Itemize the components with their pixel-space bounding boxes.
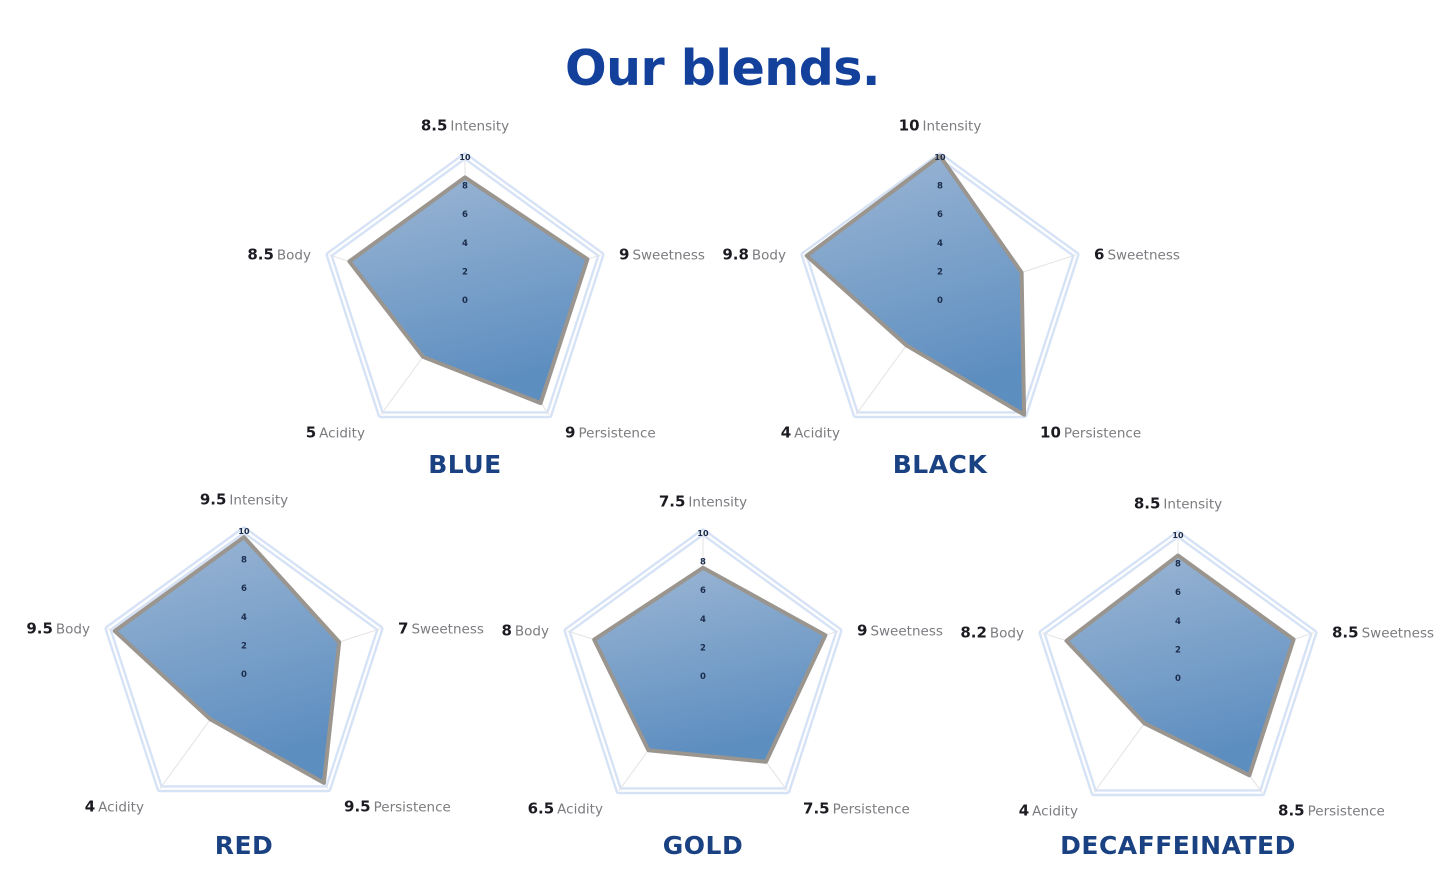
radar-chart-gold: 10864207.5Intensity9Sweetness7.5Persiste… [0, 0, 1445, 894]
radial-tick-label: 8 [1175, 560, 1181, 570]
axis-value: 10 [1040, 423, 1061, 441]
radial-tick-label: 2 [462, 267, 468, 277]
axis-spoke [160, 673, 244, 789]
axis-label-acidity: 4Acidity [1019, 803, 1078, 819]
axis-label-body: 8Body [501, 623, 549, 639]
blend-name-black: BLACK [640, 450, 1240, 479]
radial-tick-label: 2 [241, 641, 247, 651]
axis-spoke [703, 675, 787, 791]
axis-name: Intensity [688, 495, 747, 511]
radial-tick-label: 4 [241, 613, 247, 623]
radial-tick-label: 10 [697, 529, 709, 538]
axis-value: 4 [85, 797, 95, 815]
blend-name-blue: BLUE [165, 450, 765, 479]
radial-tick-label: 2 [937, 267, 943, 277]
axis-spoke [804, 255, 940, 299]
axis-label-sweetness: 6Sweetness [1094, 247, 1180, 263]
outer-grid-ring-highlight [108, 530, 380, 789]
radial-tick-label: 6 [462, 210, 468, 220]
axis-label-sweetness: 8.5Sweetness [1332, 625, 1434, 641]
axis-label-body: 9.5Body [26, 621, 90, 637]
axis-spoke [465, 255, 601, 299]
axis-label-intensity: 8.5Intensity [1134, 497, 1222, 513]
axis-spoke [329, 255, 465, 299]
axis-value: 7.5 [803, 799, 830, 817]
axis-value: 9 [565, 423, 575, 441]
axis-label-sweetness: 9Sweetness [619, 247, 705, 263]
blend-name-gold: GOLD [403, 831, 1003, 860]
radial-tick-label: 0 [241, 670, 247, 680]
radar-chart-blue: 10864208.5Intensity9Sweetness9Persistenc… [0, 0, 1445, 894]
radar-chart-black: 108642010Intensity6Sweetness10Persistenc… [0, 0, 1445, 894]
axis-name: Sweetness [632, 247, 704, 263]
axis-name: Acidity [557, 801, 603, 817]
axis-spoke [856, 299, 940, 415]
axis-spoke [940, 255, 1076, 299]
radar-plot-area: 1086420 [0, 0, 1445, 894]
data-polygon [594, 568, 825, 762]
axis-name: Body [515, 623, 549, 639]
axis-name: Intensity [1163, 497, 1222, 513]
axis-spoke [244, 629, 380, 673]
blend-name-decaffeinated: DECAFFEINATED [878, 831, 1445, 860]
axis-name: Acidity [794, 425, 840, 441]
axis-name: Intensity [923, 119, 982, 135]
radial-tick-label: 4 [700, 615, 706, 625]
axis-name: Sweetness [1107, 247, 1179, 263]
data-polygon [115, 537, 339, 783]
page-title: Our blends. [0, 40, 1445, 97]
axis-name: Persistence [1064, 425, 1141, 441]
axis-value: 9 [619, 245, 629, 263]
axis-label-persistence: 10Persistence [1040, 425, 1141, 441]
axis-spoke [1042, 633, 1178, 677]
axis-value: 8.5 [1278, 801, 1305, 819]
axis-value: 7 [398, 619, 408, 637]
axis-label-persistence: 7.5Persistence [803, 801, 910, 817]
axis-name: Sweetness [870, 623, 942, 639]
data-polygon [349, 177, 587, 403]
radial-tick-label: 6 [241, 584, 247, 594]
radial-tick-label: 10 [1172, 531, 1184, 540]
axis-label-persistence: 9.5Persistence [344, 799, 451, 815]
radial-tick-label: 0 [700, 672, 706, 682]
axis-name: Intensity [450, 119, 509, 135]
axis-value: 4 [1019, 801, 1029, 819]
axis-spoke [1178, 633, 1314, 677]
radial-tick-label: 8 [241, 556, 247, 566]
outer-grid-ring-highlight [567, 532, 839, 791]
radial-tick-label: 0 [462, 296, 468, 306]
radial-tick-label: 0 [1175, 674, 1181, 684]
radial-tick-label: 4 [1175, 617, 1181, 627]
radial-tick-label: 6 [700, 586, 706, 596]
axis-label-intensity: 10Intensity [899, 119, 982, 135]
outer-grid-ring [329, 156, 601, 415]
axis-name: Persistence [833, 801, 910, 817]
axis-name: Persistence [578, 425, 655, 441]
radial-tick-label: 6 [937, 210, 943, 220]
axis-value: 8.5 [1332, 623, 1359, 641]
axis-value: 9.5 [200, 491, 227, 509]
axis-label-body: 8.2Body [960, 625, 1024, 641]
axis-value: 8.2 [960, 623, 987, 641]
axis-label-sweetness: 7Sweetness [398, 621, 484, 637]
axis-value: 9.8 [722, 245, 749, 263]
axis-spoke [465, 299, 549, 415]
axis-name: Persistence [374, 799, 451, 815]
axis-label-acidity: 6.5Acidity [528, 801, 603, 817]
axis-label-acidity: 4Acidity [85, 799, 144, 815]
axis-name: Sweetness [1362, 625, 1434, 641]
axis-value: 8.5 [1134, 495, 1161, 513]
axis-spoke [703, 631, 839, 675]
axis-label-acidity: 5Acidity [306, 425, 365, 441]
axis-spoke [108, 629, 244, 673]
radar-plot-area: 1086420 [0, 0, 1445, 894]
axis-value: 4 [781, 423, 791, 441]
radial-tick-label: 2 [700, 643, 706, 653]
axis-name: Sweetness [411, 621, 483, 637]
outer-grid-ring [108, 530, 380, 789]
axis-name: Acidity [319, 425, 365, 441]
radar-chart-red: 10864209.5Intensity7Sweetness9.5Persiste… [0, 0, 1445, 894]
outer-grid-ring [567, 532, 839, 791]
axis-name: Persistence [1308, 803, 1385, 819]
data-polygon [1067, 556, 1294, 776]
axis-name: Acidity [98, 799, 144, 815]
axis-label-persistence: 9Persistence [565, 425, 656, 441]
axis-spoke [1178, 677, 1262, 793]
axis-value: 9.5 [26, 619, 53, 637]
axis-spoke [567, 631, 703, 675]
axis-name: Body [56, 621, 90, 637]
axis-value: 9 [857, 621, 867, 639]
axis-label-intensity: 7.5Intensity [659, 495, 747, 511]
outer-grid-ring-highlight [1042, 534, 1314, 793]
axis-value: 8.5 [247, 245, 274, 263]
axis-spoke [1094, 677, 1178, 793]
axis-spoke [381, 299, 465, 415]
radial-tick-label: 8 [937, 182, 943, 192]
radial-tick-label: 8 [462, 182, 468, 192]
radar-chart-decaffeinated: 10864208.5Intensity8.5Sweetness8.5Persis… [0, 0, 1445, 894]
axis-label-intensity: 8.5Intensity [421, 119, 509, 135]
radial-tick-label: 10 [934, 153, 946, 162]
axis-label-persistence: 8.5Persistence [1278, 803, 1385, 819]
radar-plot-area: 1086420 [0, 0, 1445, 894]
axis-name: Body [752, 247, 786, 263]
axis-label-sweetness: 9Sweetness [857, 623, 943, 639]
axis-spoke [244, 673, 328, 789]
axis-spoke [940, 299, 1024, 415]
radar-plot-area: 1086420 [0, 0, 1445, 894]
axis-label-body: 8.5Body [247, 247, 311, 263]
axis-value: 10 [899, 117, 920, 135]
axis-label-intensity: 9.5Intensity [200, 493, 288, 509]
outer-grid-ring-highlight [804, 156, 1076, 415]
axis-name: Body [990, 625, 1024, 641]
axis-name: Acidity [1032, 803, 1078, 819]
radial-tick-label: 8 [700, 558, 706, 568]
radial-tick-label: 10 [459, 153, 471, 162]
axis-label-acidity: 4Acidity [781, 425, 840, 441]
axis-label-body: 9.8Body [722, 247, 786, 263]
outer-grid-ring-highlight [329, 156, 601, 415]
outer-grid-ring [804, 156, 1076, 415]
axis-value: 6 [1094, 245, 1104, 263]
axis-value: 8.5 [421, 117, 448, 135]
axis-value: 8 [501, 621, 511, 639]
axis-name: Body [277, 247, 311, 263]
axis-spoke [619, 675, 703, 791]
radial-tick-label: 4 [462, 239, 468, 249]
radial-tick-label: 2 [1175, 645, 1181, 655]
data-polygon [807, 156, 1024, 415]
axis-value: 9.5 [344, 797, 371, 815]
radial-tick-label: 6 [1175, 588, 1181, 598]
radar-plot-area: 1086420 [0, 0, 1445, 894]
axis-value: 6.5 [528, 799, 555, 817]
axis-value: 7.5 [659, 493, 686, 511]
outer-grid-ring [1042, 534, 1314, 793]
axis-value: 5 [306, 423, 316, 441]
axis-name: Intensity [229, 493, 288, 509]
radial-tick-label: 10 [238, 527, 250, 536]
radial-tick-label: 0 [937, 296, 943, 306]
radial-tick-label: 4 [937, 239, 943, 249]
blend-name-red: RED [0, 831, 544, 860]
